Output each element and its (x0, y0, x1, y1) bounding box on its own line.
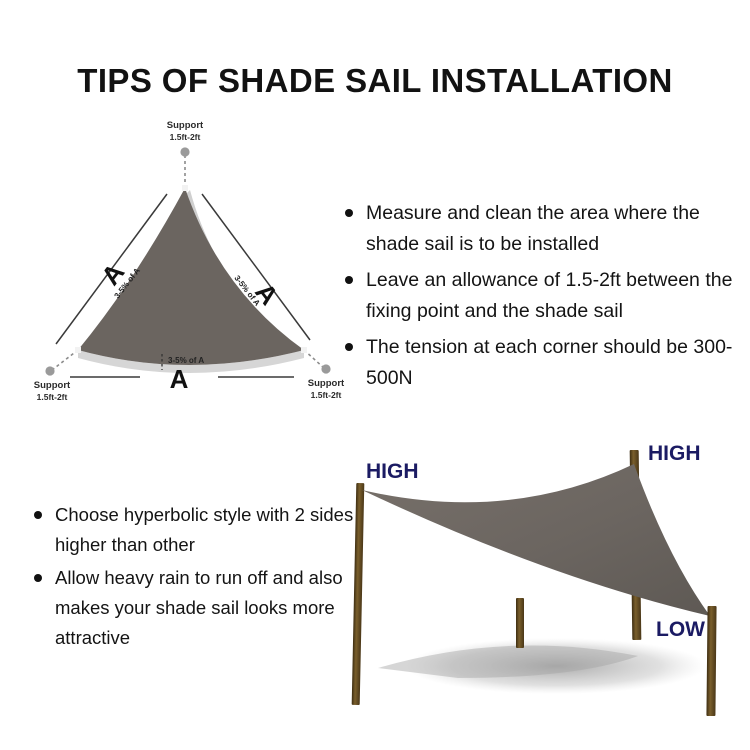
hyperbolic-sail-diagram: HIGH HIGH LOW (338, 428, 750, 728)
tip-text: Choose hyperbolic style with 2 sides hig… (55, 504, 353, 555)
support-sublabel-bottom-right: 1.5ft-2ft (311, 390, 342, 400)
corner-plate-left (75, 347, 81, 353)
post-middle (516, 598, 524, 648)
anchor-dot-top (180, 147, 189, 156)
support-line-bottom-left (52, 350, 78, 370)
list-item: The tension at each corner should be 300… (345, 332, 743, 394)
bullet-dot-icon (345, 209, 353, 217)
bullet-dot-icon (34, 511, 42, 519)
installation-tips-bottom: Choose hyperbolic style with 2 sides hig… (34, 500, 354, 656)
list-item: Leave an allowance of 1.5-2ft between th… (345, 265, 743, 327)
post-low (706, 606, 716, 716)
anchor-dot-bottom-right (321, 364, 330, 373)
sail-body (362, 464, 710, 616)
tips-top-list: Measure and clean the area where the sha… (345, 198, 743, 394)
page-title: TIPS OF SHADE SAIL INSTALLATION (0, 62, 750, 100)
sail-label-left-high: HIGH (366, 460, 419, 483)
infographic-page: TIPS OF SHADE SAIL INSTALLATION (0, 0, 750, 750)
bullet-dot-icon (34, 574, 42, 582)
list-item: Choose hyperbolic style with 2 sides hig… (34, 500, 354, 560)
tips-bottom-list: Choose hyperbolic style with 2 sides hig… (34, 500, 354, 653)
bullet-dot-icon (345, 276, 353, 284)
corner-plate-right (301, 347, 307, 353)
post-left-high (352, 483, 365, 705)
support-sublabel-top: 1.5ft-2ft (170, 132, 201, 142)
sag-annotation-bottom-text: 3-5% of A (168, 356, 204, 365)
sail-label-low: LOW (656, 618, 705, 641)
dimension-label-bottom-text: A (170, 364, 189, 394)
support-label-bottom-left: Support (34, 380, 71, 391)
support-label-bottom-right: Support (308, 378, 345, 389)
triangle-shade-sail-diagram: A 3-5% of A A 3-5% of A A 3-5% of A Supp… (22, 112, 352, 412)
support-label-top: Support (167, 120, 204, 131)
tip-text: Measure and clean the area where the sha… (366, 202, 700, 255)
anchor-dot-bottom-left (45, 366, 54, 375)
sail-label-right-high: HIGH (648, 442, 701, 465)
tip-text: Leave an allowance of 1.5-2ft between th… (366, 269, 732, 322)
list-item: Measure and clean the area where the sha… (345, 198, 743, 260)
list-item: Allow heavy rain to run off and also mak… (34, 563, 354, 653)
support-sublabel-bottom-left: 1.5ft-2ft (37, 392, 68, 402)
tip-text: The tension at each corner should be 300… (366, 336, 732, 389)
corner-plate-top (182, 185, 188, 191)
bullet-dot-icon (345, 343, 353, 351)
installation-tips-top: Measure and clean the area where the sha… (345, 198, 743, 399)
tip-text: Allow heavy rain to run off and also mak… (55, 567, 343, 648)
